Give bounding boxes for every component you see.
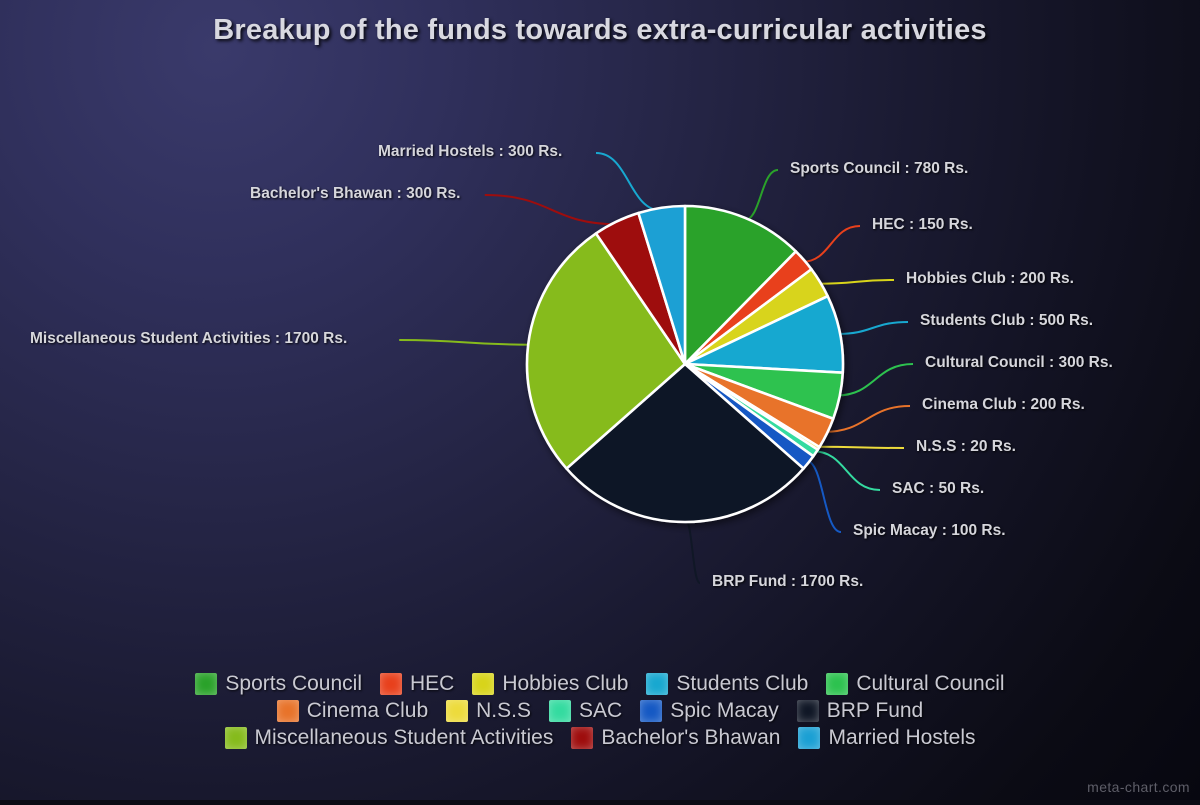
legend-swatch-icon <box>797 700 819 722</box>
callout-label-brp-fund: BRP Fund : 1700 Rs. <box>712 573 863 591</box>
legend-label: Hobbies Club <box>502 672 628 696</box>
legend-label: SAC <box>579 699 622 723</box>
leader-line-brp-fund <box>685 519 700 583</box>
legend-swatch-icon <box>446 700 468 722</box>
legend-label: Sports Council <box>225 672 362 696</box>
legend-label: Spic Macay <box>670 699 779 723</box>
legend-swatch-icon <box>225 727 247 749</box>
legend-label: Cultural Council <box>856 672 1004 696</box>
leader-line-miscellaneous <box>399 340 531 345</box>
legend-row-3: Miscellaneous Student ActivitiesBachelor… <box>216 726 985 750</box>
callout-label-spic-macay: Spic Macay : 100 Rs. <box>853 522 1006 540</box>
legend-label: Married Hostels <box>828 726 975 750</box>
leader-line-sports-council <box>744 170 778 221</box>
legend-swatch-icon <box>277 700 299 722</box>
legend-item[interactable]: Hobbies Club <box>472 672 628 696</box>
leader-line-spic-macay <box>806 461 841 532</box>
legend-swatch-icon <box>472 673 494 695</box>
pie-slices <box>527 206 843 522</box>
callout-label-hobbies-club: Hobbies Club : 200 Rs. <box>906 270 1074 288</box>
legend-item[interactable]: HEC <box>380 672 454 696</box>
callout-label-nss: N.S.S : 20 Rs. <box>916 438 1016 456</box>
legend-label: Cinema Club <box>307 699 428 723</box>
callout-label-cultural-council: Cultural Council : 300 Rs. <box>925 354 1113 372</box>
leader-line-students-club <box>837 322 908 334</box>
legend-label: Students Club <box>676 672 808 696</box>
legend-item[interactable]: SAC <box>549 699 622 723</box>
legend-label: BRP Fund <box>827 699 924 723</box>
legend-swatch-icon <box>549 700 571 722</box>
callout-label-miscellaneous: Miscellaneous Student Activities : 1700 … <box>30 330 347 348</box>
leader-line-hobbies-club <box>818 280 894 284</box>
callout-label-sac: SAC : 50 Rs. <box>892 480 984 498</box>
leader-line-married-hostels <box>596 153 662 211</box>
watermark: meta-chart.com <box>1087 779 1190 795</box>
legend-item[interactable]: Sports Council <box>195 672 362 696</box>
legend-item[interactable]: Bachelor's Bhawan <box>571 726 780 750</box>
legend-swatch-icon <box>826 673 848 695</box>
leader-line-cultural-council <box>837 364 913 396</box>
leader-line-bachelors-bhawan <box>485 195 618 224</box>
legend-swatch-icon <box>195 673 217 695</box>
leader-line-nss <box>816 447 904 448</box>
legend-item[interactable]: Cultural Council <box>826 672 1004 696</box>
legend-item[interactable]: Cinema Club <box>277 699 428 723</box>
callout-label-cinema-club: Cinema Club : 200 Rs. <box>922 396 1085 414</box>
leader-line-hec <box>802 226 860 262</box>
legend-label: HEC <box>410 672 454 696</box>
legend-label: Miscellaneous Student Activities <box>255 726 554 750</box>
legend-item[interactable]: BRP Fund <box>797 699 924 723</box>
callout-label-students-club: Students Club : 500 Rs. <box>920 312 1093 330</box>
legend-swatch-icon <box>798 727 820 749</box>
legend-item[interactable]: Students Club <box>646 672 808 696</box>
callout-label-hec: HEC : 150 Rs. <box>872 216 973 234</box>
callout-label-married-hostels: Married Hostels : 300 Rs. <box>378 143 562 161</box>
callout-label-bachelors-bhawan: Bachelor's Bhawan : 300 Rs. <box>250 185 460 203</box>
legend-item[interactable]: Married Hostels <box>798 726 975 750</box>
legend-item[interactable]: Spic Macay <box>640 699 779 723</box>
legend-swatch-icon <box>380 673 402 695</box>
legend-swatch-icon <box>646 673 668 695</box>
callout-label-sports-council: Sports Council : 780 Rs. <box>790 160 968 178</box>
legend-item[interactable]: Miscellaneous Student Activities <box>225 726 554 750</box>
leader-line-sac <box>813 451 880 490</box>
legend-row-1: Sports CouncilHECHobbies ClubStudents Cl… <box>186 672 1013 696</box>
chart-legend: Sports CouncilHECHobbies ClubStudents Cl… <box>0 672 1200 750</box>
chart-canvas: Breakup of the funds towards extra-curri… <box>0 0 1200 800</box>
legend-label: N.S.S <box>476 699 531 723</box>
legend-item[interactable]: N.S.S <box>446 699 531 723</box>
legend-swatch-icon <box>571 727 593 749</box>
legend-label: Bachelor's Bhawan <box>601 726 780 750</box>
legend-swatch-icon <box>640 700 662 722</box>
legend-row-2: Cinema ClubN.S.SSACSpic MacayBRP Fund <box>268 699 932 723</box>
